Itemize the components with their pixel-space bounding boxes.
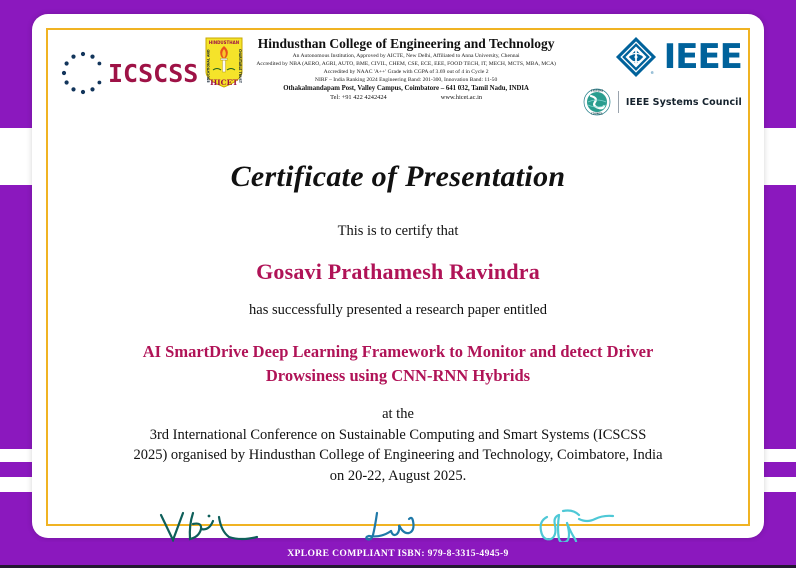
hicet-caption: HICET <box>210 78 238 87</box>
ieee-council-label: IEEE Systems Council <box>626 97 742 108</box>
certificate-header: ICSCSS HINDUSTHAN EDUCATIONAL AND CHARIT… <box>60 32 736 136</box>
college-name: Hindusthan College of Engineering and Te… <box>256 36 556 52</box>
decor-stripe-right-lower-b <box>764 477 796 492</box>
svg-text:SYSTEMS: SYSTEMS <box>591 89 604 92</box>
decor-stripe-right-upper <box>764 128 796 185</box>
svg-text:HINDUSTHAN: HINDUSTHAN <box>209 40 239 45</box>
hicet-logo: HINDUSTHAN EDUCATIONAL AND CHARITABLE TR… <box>198 32 250 95</box>
svg-text:COUNCIL: COUNCIL <box>591 113 603 116</box>
dot-circle-icon <box>60 50 106 96</box>
college-phone: Tel: +91 422 4242424 <box>330 94 387 101</box>
ieee-wordmark: IEEE <box>664 42 742 73</box>
paper-title: AI SmartDrive Deep Learning Framework to… <box>60 340 736 388</box>
council-divider <box>618 91 619 113</box>
college-subline-4: NIRF – India Ranking 2024 Engineering Ba… <box>256 76 556 84</box>
college-contact: Tel: +91 422 4242424 www.hicet.ac.in <box>256 94 556 101</box>
recipient-name: Gosavi Prathamesh Ravindra <box>60 259 736 285</box>
presented-line: has successfully presented a research pa… <box>60 302 736 319</box>
college-website: www.hicet.ac.in <box>441 94 482 101</box>
certificate-title: Certificate of Presentation <box>60 160 736 194</box>
ieee-logo-block: ® IEEE SYSTEMS COUNCIL IEEE S <box>562 32 742 116</box>
svg-text:®: ® <box>650 70 654 75</box>
college-details: Hindusthan College of Engineering and Te… <box>250 32 562 101</box>
ieee-logo: ® IEEE <box>562 36 742 78</box>
icscss-logo: ICSCSS <box>60 32 198 96</box>
footer-bar: XPLORE COMPLIANT ISBN: 979-8-3315-4945-9 <box>0 542 796 568</box>
icscss-wordmark: ICSCSS <box>108 59 198 88</box>
svg-text:CHARITABLE TRUST: CHARITABLE TRUST <box>238 49 242 84</box>
college-address: Othakalmandapam Post, Valley Campus, Coi… <box>256 85 556 92</box>
systems-council-globe-icon: SYSTEMS COUNCIL <box>583 88 611 116</box>
ieee-systems-council: SYSTEMS COUNCIL IEEE Systems Council <box>562 88 742 116</box>
decor-stripe-left-upper <box>0 128 32 185</box>
conference-details: 3rd International Conference on Sustaina… <box>60 425 736 487</box>
certificate-card: ICSCSS HINDUSTHAN EDUCATIONAL AND CHARIT… <box>32 14 764 538</box>
decor-stripe-left-lower-b <box>0 477 32 492</box>
decor-stripe-right-lower-a <box>764 449 796 462</box>
college-subline-1: An Autonomous Institution, Approved by A… <box>256 52 556 60</box>
ieee-diamond-icon: ® <box>615 36 657 78</box>
torch-shield-icon: HINDUSTHAN EDUCATIONAL AND CHARITABLE TR… <box>202 36 246 90</box>
college-subline-2: Accredited by NBA (AERO, AGRI, AUTO, BME… <box>256 60 556 68</box>
college-subline-3: Accredited by NAAC 'A++' Grade with CGPA… <box>256 68 556 76</box>
certificate-body: Certificate of Presentation This is to c… <box>60 160 736 487</box>
at-the-line: at the <box>60 406 736 423</box>
decor-stripe-left-lower-a <box>0 449 32 462</box>
certify-line: This is to certify that <box>60 223 736 240</box>
footer-isbn-text: XPLORE COMPLIANT ISBN: 979-8-3315-4945-9 <box>287 548 508 559</box>
